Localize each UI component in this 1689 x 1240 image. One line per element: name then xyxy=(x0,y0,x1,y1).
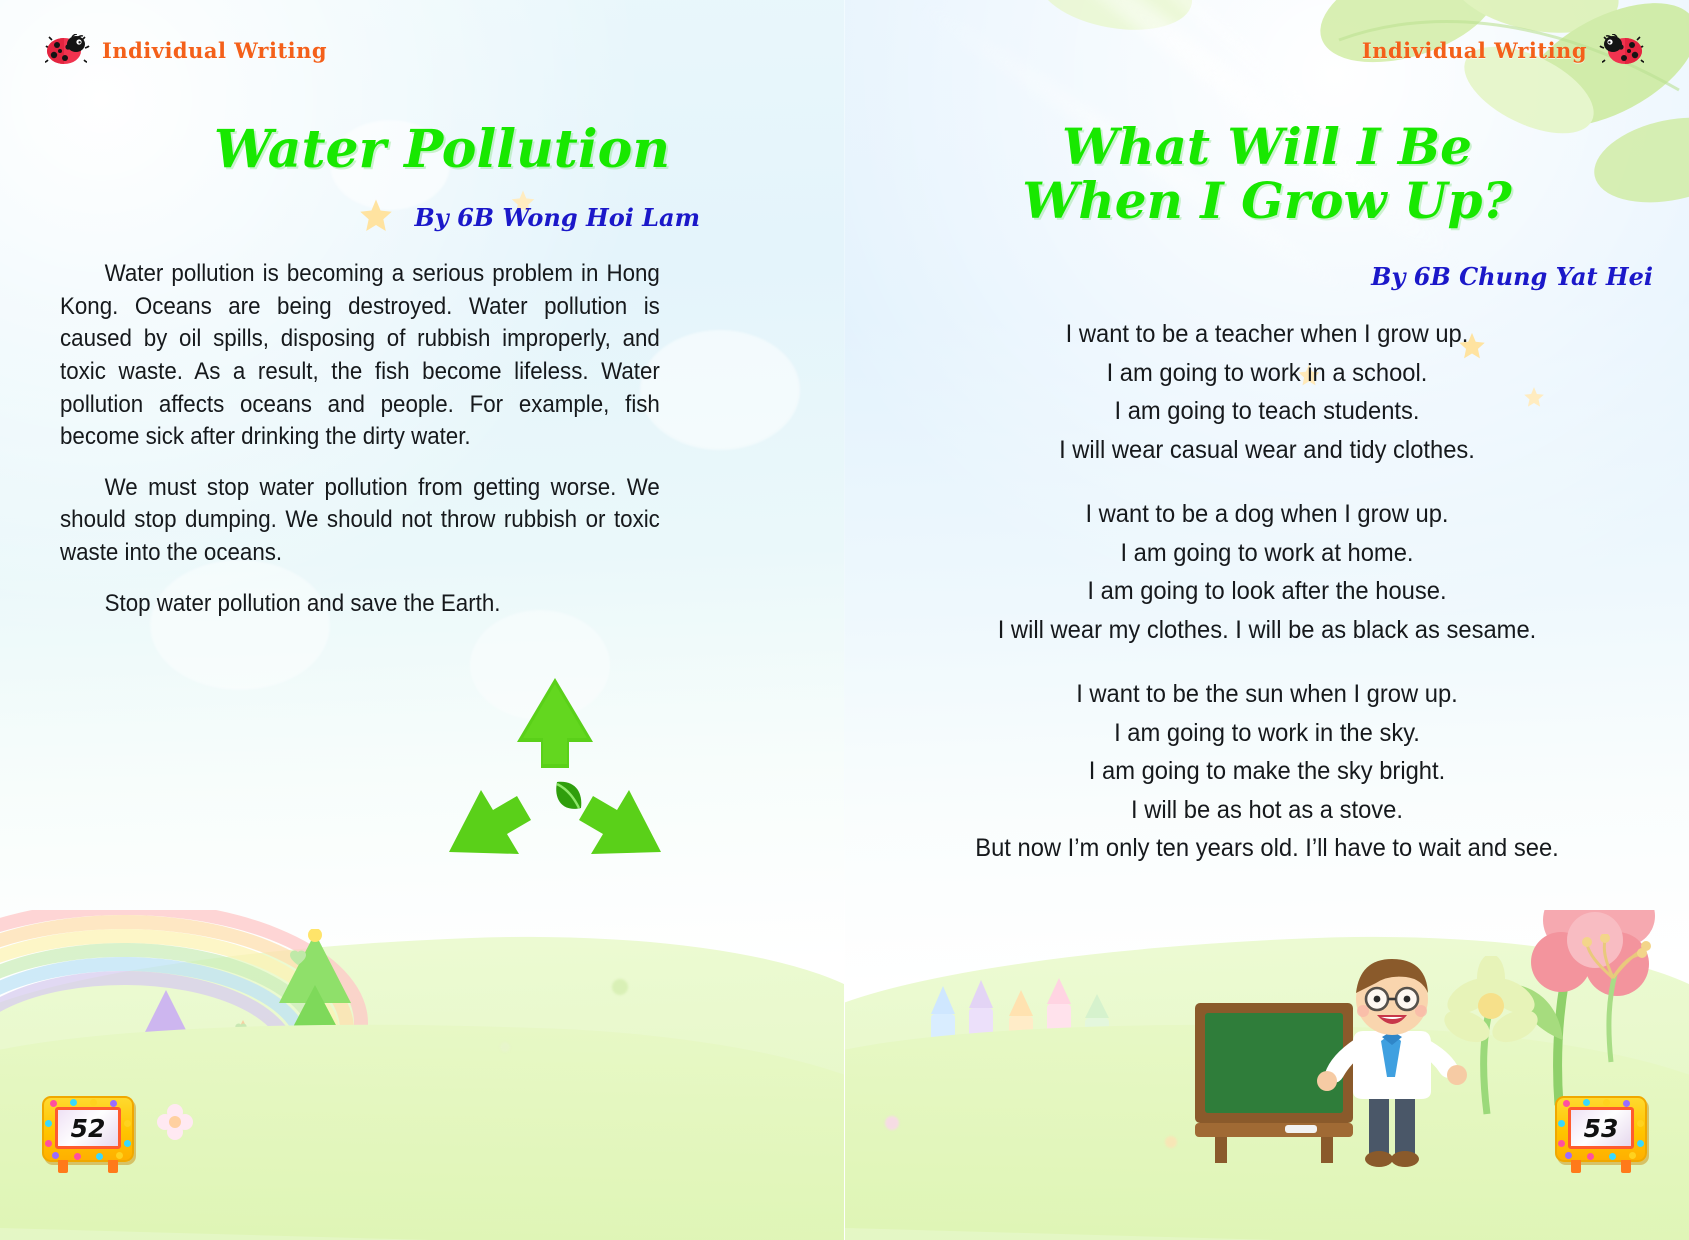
left-ground-scenery xyxy=(0,910,844,1240)
poem-stanza: I want to be a dog when I grow up. I am … xyxy=(845,495,1689,649)
right-page: Individual Writing What Will I Be When I… xyxy=(845,0,1689,1240)
poem-stanza: I want to be a teacher when I grow up. I… xyxy=(845,315,1689,469)
dot-decoration xyxy=(612,979,628,995)
essay-body: Water pollution is becoming a serious pr… xyxy=(60,258,660,638)
right-page-byline: By 6B Chung Yat Hei xyxy=(1371,262,1653,291)
poem-line: I want to be a teacher when I grow up. xyxy=(866,315,1668,354)
page-number: 53 xyxy=(1584,1114,1619,1143)
poem-line: I am going to teach students. xyxy=(866,392,1668,431)
star-decoration xyxy=(355,196,397,238)
magazine-spread: Individual Writing Water Pollution By 6B… xyxy=(0,0,1689,1240)
essay-paragraph: Stop water pollution and save the Earth. xyxy=(60,588,660,621)
essay-paragraph: We must stop water pollution from gettin… xyxy=(60,472,660,570)
poem-line: I am going to work at home. xyxy=(866,534,1668,573)
poem-stanza: I want to be the sun when I grow up. I a… xyxy=(845,675,1689,868)
page-number: 52 xyxy=(71,1114,106,1143)
poem-line: I am going to work in the sky. xyxy=(866,714,1668,753)
flower-illustration xyxy=(1553,934,1673,1064)
left-page: Individual Writing Water Pollution By 6B… xyxy=(0,0,844,1240)
right-page-header: Individual Writing xyxy=(1362,34,1645,66)
dot-decoration xyxy=(885,1116,899,1130)
header-label: Individual Writing xyxy=(102,38,327,63)
boy-figure xyxy=(1307,947,1477,1172)
poem-line: I am going to work in a school. xyxy=(866,354,1668,393)
left-page-header: Individual Writing xyxy=(44,34,327,66)
page-number-plaque: 52 xyxy=(42,1096,134,1162)
dot-decoration xyxy=(500,1042,510,1052)
poem-line: I will be as hot as a stove. xyxy=(866,791,1668,830)
poem-body: I want to be a teacher when I grow up. I… xyxy=(845,315,1689,894)
poem-line: I am going to make the sky bright. xyxy=(866,752,1668,791)
poem-line: I want to be the sun when I grow up. xyxy=(866,675,1668,714)
right-page-title: What Will I Be When I Grow Up? xyxy=(845,120,1689,228)
ladybug-icon xyxy=(1599,34,1645,66)
boy-with-chalkboard-illustration xyxy=(1189,942,1489,1172)
essay-paragraph: Water pollution is becoming a serious pr… xyxy=(60,258,660,454)
left-page-title: Water Pollution xyxy=(0,122,844,178)
page-number-plaque: 53 xyxy=(1555,1096,1647,1162)
left-page-byline: By 6B Wong Hoi Lam xyxy=(415,203,701,232)
ladybug-icon xyxy=(44,34,90,66)
flower-decoration xyxy=(155,1102,195,1142)
poem-line: I will wear my clothes. I will be as bla… xyxy=(866,611,1668,650)
poem-line: But now I’m only ten years old. I’ll hav… xyxy=(866,829,1668,868)
recycle-icon xyxy=(435,672,675,887)
poem-line: I want to be a dog when I grow up. xyxy=(866,495,1668,534)
poem-line: I am going to look after the house. xyxy=(866,572,1668,611)
header-label: Individual Writing xyxy=(1362,38,1587,63)
heart-decoration xyxy=(285,944,311,968)
poem-line: I will wear casual wear and tidy clothes… xyxy=(866,431,1668,470)
dot-decoration xyxy=(1165,1136,1177,1148)
